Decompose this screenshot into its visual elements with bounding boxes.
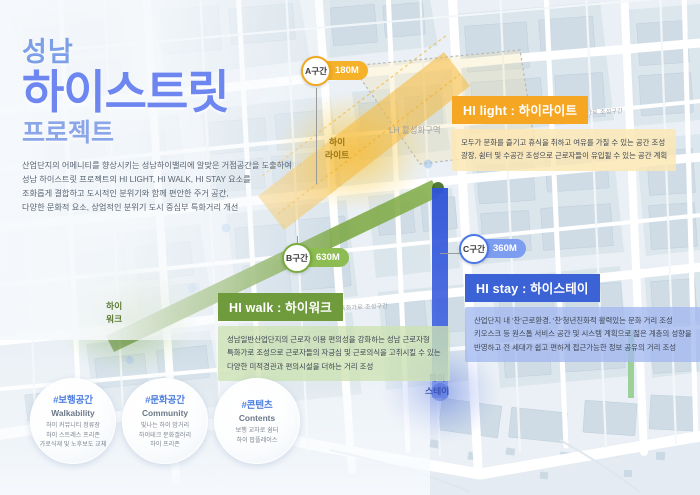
keyword-circles: #보행공간 Walkability 하이 커뮤니티 정류장 하이 스트레스 프리…: [30, 378, 300, 464]
keyword-circle-contents[interactable]: #콘텐츠 Contents 보행 교차로 쉼터 하이 팝플레이스: [214, 378, 300, 464]
panel-hi-stay-line-2: 키오스크 등 원스톱 서비스 공간 및 시스템 계획으로 젊은 계층의 성향을: [474, 327, 692, 340]
desc-line-4: 다양한 문화적 요소, 상업적인 분위기 도시 중심부 특화거리 개선: [22, 201, 292, 215]
panel-hi-walk-line-2: 특화가로 조성으로 근로자들의 자긍심 및 근로의식을 고취시킬 수 있는: [227, 346, 441, 359]
keyword-item: 하이 팝플레이스: [236, 436, 279, 446]
lh-zone-label: LH 활성화구역: [389, 124, 441, 136]
route-label-hiwalk-line2: 워크: [106, 313, 122, 326]
panel-hi-stay: HI stay : 하이스테이 산업단지 내 '찬'근로환경, '찬'청년친화적…: [465, 274, 700, 362]
keyword-en-community: Community: [142, 408, 188, 418]
panel-hi-stay-title: HI stay : 하이스테이: [465, 274, 600, 302]
keyword-item: 하이 커뮤니티 정류장: [40, 421, 107, 431]
route-label-hiwalk: 하이 워크: [106, 300, 122, 326]
route-label-hilight-line2: 라이트: [325, 149, 349, 162]
route-label-hilight-line1: 하이: [325, 136, 349, 149]
segment-marker-b[interactable]: B구간 630M: [282, 248, 349, 267]
keyword-en-walkability: Walkability: [51, 408, 94, 418]
keyword-item: 하이 프리존: [139, 440, 191, 450]
panel-hi-light-line-2: 광장, 쉼터 및 수공간 조성으로 근로자들이 유입될 수 있는 공간 계획: [461, 149, 667, 162]
keyword-circle-walkability[interactable]: #보행공간 Walkability 하이 커뮤니티 정류장 하이 스트레스 프리…: [30, 378, 116, 464]
keyword-item: 하이 스트레스 프리존: [40, 431, 107, 441]
svg-text:단지: 단지: [122, 355, 131, 362]
route-label-histay-line2: 스테이: [425, 385, 449, 398]
panel-hi-walk-title: HI walk : 하이워크: [218, 293, 343, 321]
panel-hi-light-body: 모두가 문화를 즐기고 휴식을 취하고 여유를 가질 수 있는 공간 조성 광장…: [452, 129, 676, 171]
segment-c-badge: C구간: [459, 234, 489, 264]
title-eyebrow: 성남: [22, 38, 292, 66]
keyword-item: 하이테크 문화갤러리: [139, 431, 191, 441]
keyword-tag-contents: #콘텐츠: [241, 397, 272, 411]
title-subtitle: 프로젝트: [22, 120, 292, 148]
keyword-en-contents: Contents: [239, 413, 275, 423]
title-block: 성남 하이스트릿 프로젝트 산업단지의 어메니티를 향상시키는 성남하이밸리에 …: [22, 38, 292, 216]
route-label-hiwalk-line1: 하이: [106, 300, 122, 313]
keyword-tag-walkability: #보행공간: [53, 392, 93, 406]
keyword-items-walkability: 하이 커뮤니티 정류장 하이 스트레스 프리존 가로식재 및 노후보도 교체: [40, 421, 107, 451]
desc-line-2: 성남 하이스트릿 프로젝트의 HI LIGHT, HI WALK, HI STA…: [22, 173, 292, 187]
keyword-items-community: 빛나는 하이 밤거리 하이테크 문화갤러리 하이 프리존: [139, 421, 191, 451]
panel-hi-walk: HI walk : 하이워크 성남일반산업단지의 근로자 이용 편의성을 강화하…: [218, 293, 450, 381]
keyword-items-contents: 보행 교차로 쉼터 하이 팝플레이스: [236, 426, 279, 446]
desc-line-1: 산업단지의 어메니티를 향상시키는 성남하이밸리에 알맞은 거점공간을 도출하여: [22, 159, 292, 173]
desc-line-3: 조화롭게 결합하고 도시적인 분위기와 함께 편안한 주거 공간,: [22, 187, 292, 201]
panel-hi-light-title: HI light : 하이라이트: [452, 96, 588, 124]
panel-hi-stay-line-3: 반영하고 전 세대가 쉽고 편하게 접근가능한 정보 공유의 거리 조성: [474, 341, 692, 354]
keyword-item: 가로식재 및 노후보도 교체: [40, 440, 107, 450]
panel-hi-light: HI light : 하이라이트 모두가 문화를 즐기고 휴식을 취하고 여유를…: [452, 96, 676, 171]
panel-hi-stay-body: 산업단지 내 '찬'근로환경, '찬'청년친화적 활력있는 문화 거리 조성 키…: [465, 307, 700, 362]
segment-b-badge: B구간: [282, 243, 312, 273]
keyword-item: 보행 교차로 쉼터: [236, 426, 279, 436]
title-description: 산업단지의 어메니티를 향상시키는 성남하이밸리에 알맞은 거점공간을 도출하여…: [22, 159, 292, 215]
segment-marker-c[interactable]: C구간 360M: [459, 239, 526, 258]
panel-hi-walk-body: 성남일반산업단지의 근로자 이용 편의성을 강화하는 성남 근로자형 특화가로 …: [218, 326, 450, 381]
keyword-circle-community[interactable]: #문화공간 Community 빛나는 하이 밤거리 하이테크 문화갤러리 하이…: [122, 378, 208, 464]
segment-a-leader: [316, 88, 317, 184]
keyword-tag-community: #문화공간: [145, 392, 185, 406]
panel-hi-light-line-1: 모두가 문화를 즐기고 휴식을 취하고 여유를 가질 수 있는 공간 조성: [461, 136, 667, 149]
route-label-hilight: 하이 라이트: [325, 136, 349, 162]
segment-marker-a[interactable]: A구간 180M: [301, 61, 368, 80]
page-title: 하이스트릿: [22, 68, 292, 116]
panel-hi-walk-line-3: 다양한 미적경관과 편의시설을 더하는 거리 조성: [227, 360, 441, 373]
svg-text:성남: 성남: [292, 161, 302, 168]
keyword-item: 빛나는 하이 밤거리: [139, 421, 191, 431]
panel-hi-walk-line-1: 성남일반산업단지의 근로자 이용 편의성을 강화하는 성남 근로자형: [227, 333, 441, 346]
panel-hi-stay-line-1: 산업단지 내 '찬'근로환경, '찬'청년친화적 활력있는 문화 거리 조성: [474, 314, 692, 327]
segment-a-badge: A구간: [301, 56, 331, 86]
